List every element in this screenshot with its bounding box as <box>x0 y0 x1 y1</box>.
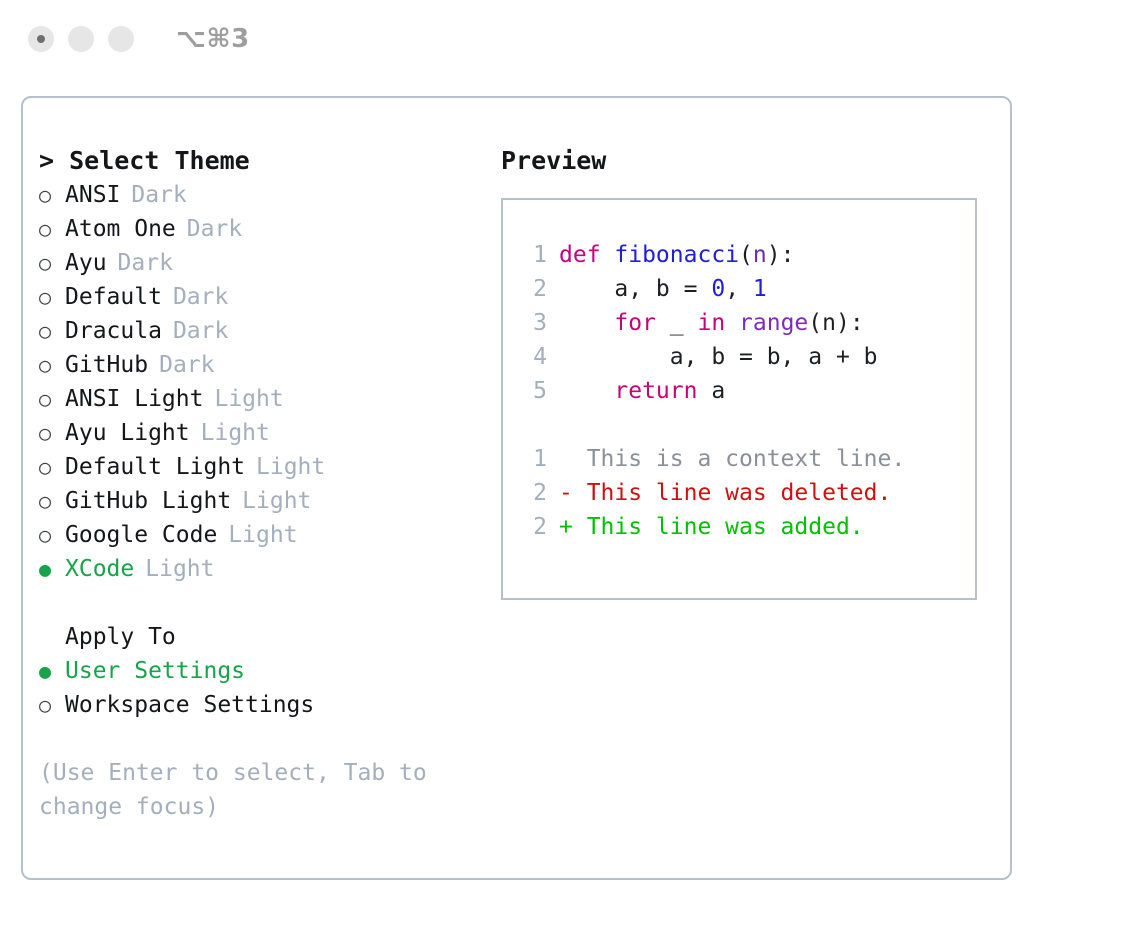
code-line-number: 5 <box>517 374 547 408</box>
theme-option-variant-tag: Light <box>242 484 311 518</box>
theme-option-xcode[interactable]: ●XCodeLight <box>39 552 478 586</box>
theme-option-label: Default <box>65 280 162 314</box>
code-line-content: for _ in range(n): <box>559 306 864 340</box>
apply-to-option-user-settings[interactable]: ●User Settings <box>39 654 478 688</box>
code-line-content: a, b = b, a + b <box>559 340 878 374</box>
code-line: 5 return a <box>517 374 975 408</box>
code-line-content: def fibonacci(n): <box>559 238 794 272</box>
code-token: return <box>614 378 711 404</box>
code-line-content: return a <box>559 374 725 408</box>
code-token: range <box>739 310 808 336</box>
title-bar: ⌥⌘3 <box>0 0 1140 78</box>
theme-option-label: Google Code <box>65 518 217 552</box>
code-line-content: a, b = 0, 1 <box>559 272 767 306</box>
theme-option-variant-tag: Dark <box>131 178 186 212</box>
diff-line-number: 2 <box>517 476 547 510</box>
code-token: ): <box>767 242 795 268</box>
list-spacer <box>39 586 478 620</box>
code-token: _ <box>670 310 698 336</box>
radio-unselected-icon: ○ <box>39 178 65 212</box>
theme-option-variant-tag: Dark <box>159 348 214 382</box>
theme-option-label: GitHub <box>65 348 148 382</box>
theme-list[interactable]: ○ANSIDark○Atom OneDark○AyuDark○DefaultDa… <box>39 178 478 586</box>
theme-option-variant-tag: Light <box>201 416 270 450</box>
radio-unselected-icon: ○ <box>39 246 65 280</box>
code-token: ( <box>739 242 753 268</box>
diff-line-content: + This line was added. <box>559 510 864 544</box>
theme-picker-panel: > Select Theme ○ANSIDark○Atom OneDark○Ay… <box>21 96 1012 880</box>
theme-option-label: Atom One <box>65 212 176 246</box>
window-dot-third-icon[interactable] <box>108 26 134 52</box>
code-token: a <box>711 378 725 404</box>
keyboard-shortcut-label: ⌥⌘3 <box>176 24 250 54</box>
theme-option-label: XCode <box>65 552 134 586</box>
code-token: n <box>753 242 767 268</box>
theme-list-column: > Select Theme ○ANSIDark○Atom OneDark○Ay… <box>23 144 478 824</box>
theme-option-variant-tag: Dark <box>118 246 173 280</box>
code-line: 3 for _ in range(n): <box>517 306 975 340</box>
keyboard-hint: (Use Enter to select, Tab to change focu… <box>39 756 439 824</box>
theme-option-variant-tag: Light <box>145 552 214 586</box>
code-token <box>559 378 614 404</box>
keyboard-hint-line-2: change focus) <box>39 790 439 824</box>
hint-spacer <box>39 722 478 756</box>
theme-option-label: Ayu Light <box>65 416 190 450</box>
theme-option-ayu[interactable]: ○AyuDark <box>39 246 478 280</box>
theme-option-label: ANSI Light <box>65 382 203 416</box>
theme-option-label: Dracula <box>65 314 162 348</box>
radio-selected-icon: ● <box>39 552 65 586</box>
theme-option-variant-tag: Dark <box>173 314 228 348</box>
theme-option-label: GitHub Light <box>65 484 231 518</box>
code-token: a, b = b, a + b <box>559 344 878 370</box>
code-token: fibonacci <box>614 242 739 268</box>
window-dot-active-center <box>37 35 45 43</box>
select-theme-heading: > Select Theme <box>39 144 478 178</box>
code-token: (n): <box>808 310 863 336</box>
preview-code-box: 1def fibonacci(n):2 a, b = 0, 13 for _ i… <box>501 198 977 600</box>
code-line: 1def fibonacci(n): <box>517 238 975 272</box>
theme-option-github[interactable]: ○GitHubDark <box>39 348 478 382</box>
apply-to-heading: Apply To <box>39 620 478 654</box>
apply-to-option-workspace-settings[interactable]: ○Workspace Settings <box>39 688 478 722</box>
theme-option-label: ANSI <box>65 178 120 212</box>
diff-line: 1 This is a context line. <box>517 442 975 476</box>
diff-line-content: This is a context line. <box>559 442 905 476</box>
code-line-number: 4 <box>517 340 547 374</box>
theme-option-default[interactable]: ○DefaultDark <box>39 280 478 314</box>
code-token: for <box>614 310 669 336</box>
window-dot-second-icon[interactable] <box>68 26 94 52</box>
code-token: , <box>725 276 753 302</box>
theme-option-google-code[interactable]: ○Google CodeLight <box>39 518 478 552</box>
radio-unselected-icon: ○ <box>39 416 65 450</box>
window-controls <box>28 26 134 52</box>
radio-unselected-icon: ○ <box>39 280 65 314</box>
window-dot-active-icon[interactable] <box>28 26 54 52</box>
theme-option-variant-tag: Light <box>228 518 297 552</box>
theme-option-default-light[interactable]: ○Default LightLight <box>39 450 478 484</box>
radio-unselected-icon: ○ <box>39 450 65 484</box>
preview-column: Preview 1def fibonacci(n):2 a, b = 0, 13… <box>478 144 1010 824</box>
keyboard-hint-line-1: (Use Enter to select, Tab to <box>39 756 439 790</box>
code-diff-gap <box>517 408 975 442</box>
app-window: ⌥⌘3 > Select Theme ○ANSIDark○Atom OneDar… <box>0 0 1140 934</box>
diff-sample: 1 This is a context line.2- This line wa… <box>517 442 975 544</box>
theme-option-atom-one[interactable]: ○Atom OneDark <box>39 212 478 246</box>
code-token: 1 <box>753 276 767 302</box>
code-token: 0 <box>711 276 725 302</box>
theme-option-variant-tag: Dark <box>173 280 228 314</box>
theme-option-variant-tag: Light <box>256 450 325 484</box>
radio-unselected-icon: ○ <box>39 382 65 416</box>
code-line: 4 a, b = b, a + b <box>517 340 975 374</box>
diff-line: 2+ This line was added. <box>517 510 975 544</box>
code-token: in <box>697 310 739 336</box>
code-line-number: 2 <box>517 272 547 306</box>
diff-line-number: 2 <box>517 510 547 544</box>
code-token <box>559 310 614 336</box>
code-line: 2 a, b = 0, 1 <box>517 272 975 306</box>
theme-option-variant-tag: Dark <box>187 212 242 246</box>
theme-option-ayu-light[interactable]: ○Ayu LightLight <box>39 416 478 450</box>
apply-to-option-label: User Settings <box>65 654 245 688</box>
theme-option-ansi-light[interactable]: ○ANSI LightLight <box>39 382 478 416</box>
apply-to-option-label: Workspace Settings <box>65 688 314 722</box>
apply-to-list[interactable]: ●User Settings○Workspace Settings <box>39 654 478 722</box>
code-line-number: 3 <box>517 306 547 340</box>
theme-option-github-light[interactable]: ○GitHub LightLight <box>39 484 478 518</box>
radio-selected-icon: ● <box>39 654 65 688</box>
code-token: def <box>559 242 614 268</box>
diff-line: 2- This line was deleted. <box>517 476 975 510</box>
radio-unselected-icon: ○ <box>39 518 65 552</box>
radio-unselected-icon: ○ <box>39 314 65 348</box>
radio-unselected-icon: ○ <box>39 212 65 246</box>
theme-option-dracula[interactable]: ○DraculaDark <box>39 314 478 348</box>
diff-line-content: - This line was deleted. <box>559 476 891 510</box>
radio-unselected-icon: ○ <box>39 484 65 518</box>
diff-line-number: 1 <box>517 442 547 476</box>
theme-option-label: Ayu <box>65 246 107 280</box>
radio-unselected-icon: ○ <box>39 348 65 382</box>
theme-option-label: Default Light <box>65 450 245 484</box>
preview-heading: Preview <box>501 144 1010 178</box>
code-sample: 1def fibonacci(n):2 a, b = 0, 13 for _ i… <box>517 238 975 408</box>
code-line-number: 1 <box>517 238 547 272</box>
code-token: a, b = <box>559 276 711 302</box>
theme-option-variant-tag: Light <box>214 382 283 416</box>
theme-option-ansi[interactable]: ○ANSIDark <box>39 178 478 212</box>
radio-unselected-icon: ○ <box>39 688 65 722</box>
